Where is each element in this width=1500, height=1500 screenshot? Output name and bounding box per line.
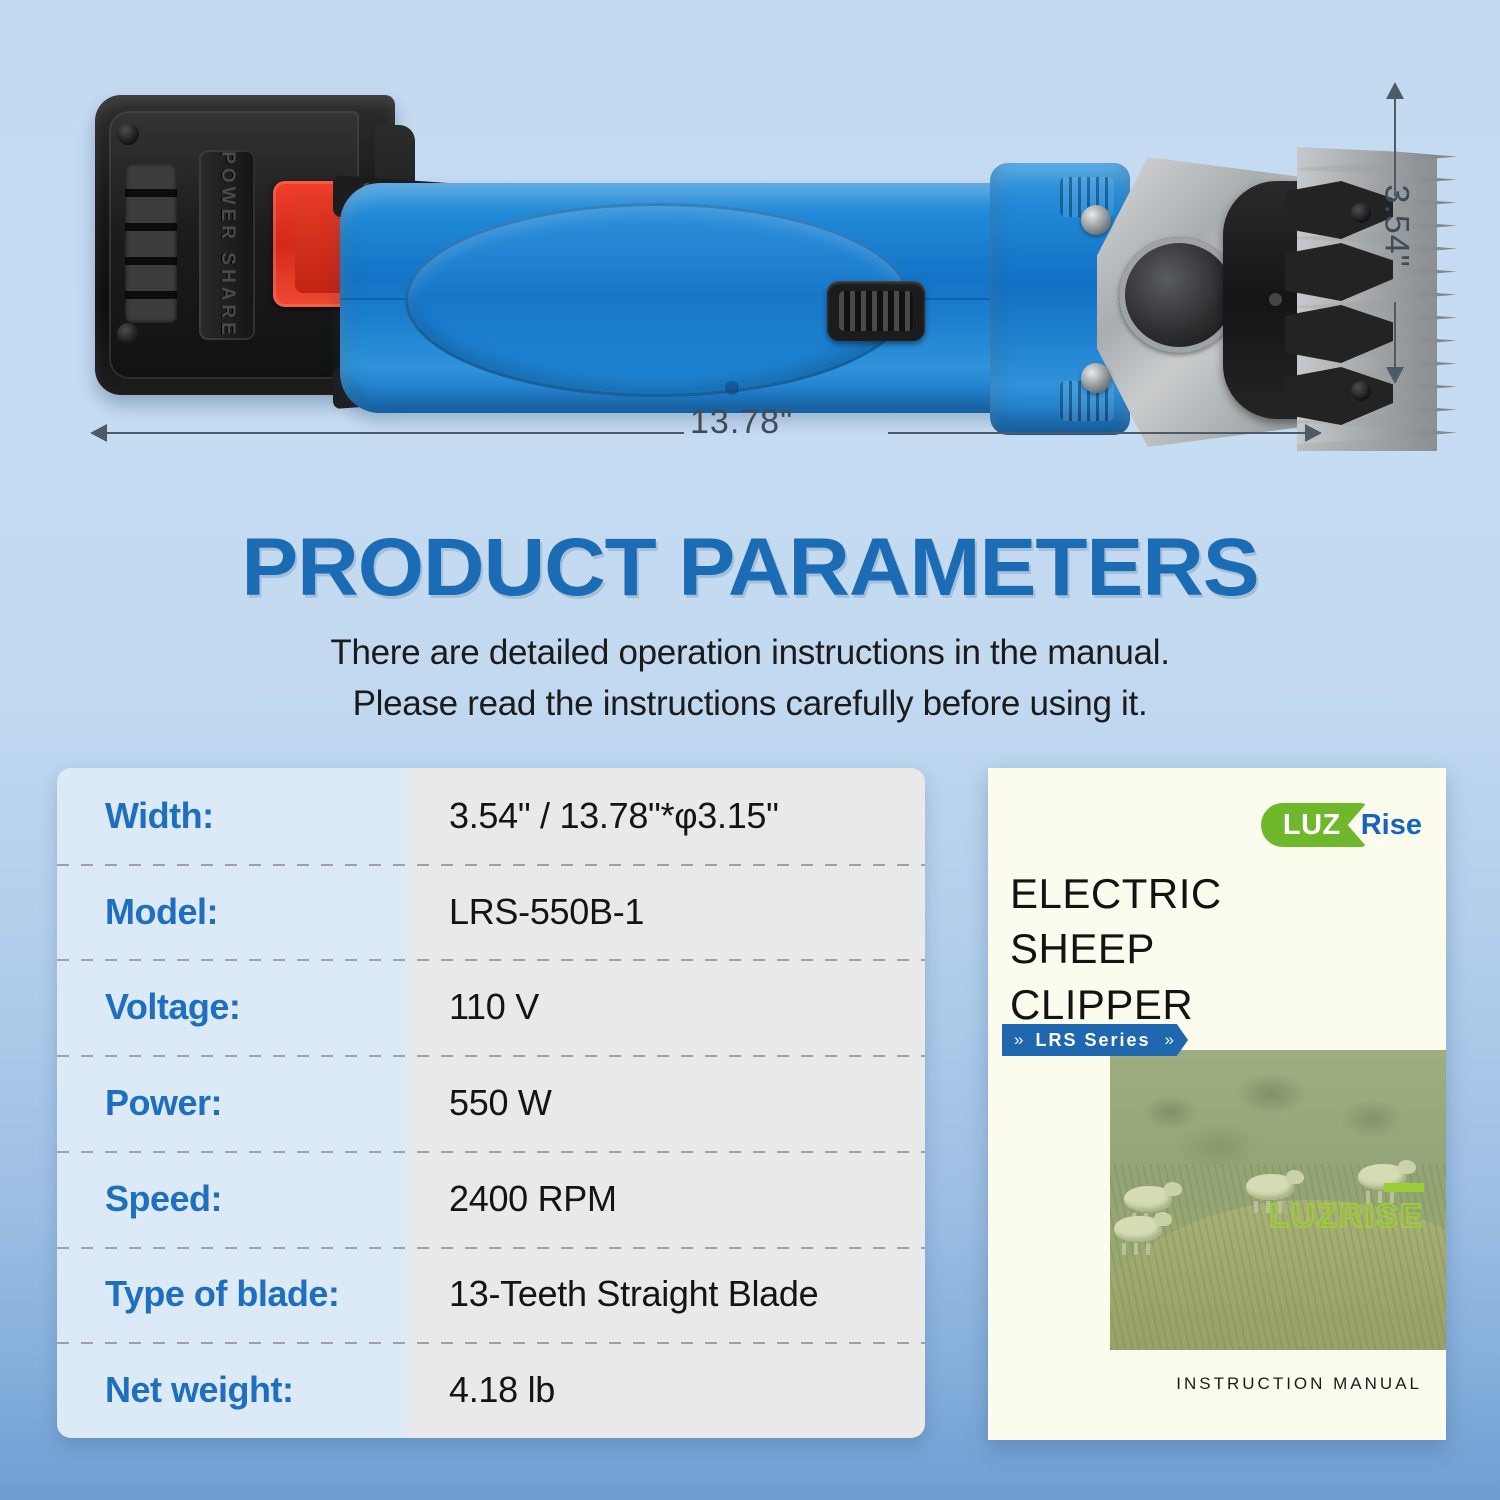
- electric-sheep-clipper-product: POWER SHARE: [85, 85, 1370, 395]
- battery-power-share-text: POWER SHARE: [216, 151, 238, 339]
- spec-value-type-of-blade: 13-Teeth Straight Blade: [407, 1273, 925, 1315]
- width-dimension-annotation: 13.78": [90, 420, 1322, 446]
- product-hero-image: POWER SHARE: [0, 0, 1500, 500]
- instruction-manual-cover: LUZRISE LUZ Rise ELECTRIC SHEEP CLIPPER …: [988, 768, 1446, 1440]
- wordmark-dash-icon: [1384, 1183, 1424, 1192]
- spec-label-voltage: Voltage:: [57, 986, 407, 1028]
- cutter-blade: [1285, 305, 1393, 363]
- head-bolt-bottom: [1081, 363, 1111, 393]
- spec-value-voltage: 110 V: [407, 986, 925, 1028]
- comb-tooth: [1297, 147, 1457, 168]
- table-row: Voltage: 110 V: [57, 959, 925, 1055]
- spec-label-model: Model:: [57, 891, 407, 933]
- spec-label-type-of-blade: Type of blade:: [57, 1273, 407, 1315]
- height-dimension-label: 3.54": [1377, 185, 1416, 255]
- manual-title-line-1: ELECTRIC: [1010, 866, 1222, 921]
- manual-title: ELECTRIC SHEEP CLIPPER: [1010, 866, 1222, 1032]
- dimension-line: [104, 432, 684, 434]
- product-parameters-table: Width: 3.54" / 13.78"*φ3.15" Model: LRS-…: [57, 768, 925, 1438]
- sheep-head: [1154, 1212, 1172, 1226]
- manual-title-line-2: SHEEP: [1010, 921, 1222, 976]
- power-switch: [827, 281, 925, 341]
- sheep-pasture-photo: LUZRISE: [1110, 1050, 1446, 1350]
- table-row: Model: LRS-550B-1: [57, 864, 925, 960]
- sheep-head: [1398, 1160, 1416, 1174]
- cutter-bolt: [1351, 381, 1371, 401]
- table-row: Width: 3.54" / 13.78"*φ3.15": [57, 768, 925, 864]
- manual-title-line-3: CLIPPER: [1010, 977, 1222, 1032]
- sheep-figure: [1124, 1182, 1182, 1216]
- chevron-right-icon: »: [1014, 1030, 1021, 1050]
- manual-wordmark: LUZRISE: [1269, 1183, 1424, 1232]
- battery-label-plate: POWER SHARE: [199, 150, 255, 340]
- chevron-right-icon: »: [1165, 1030, 1172, 1050]
- subtitle-line-1: There are detailed operation instruction…: [0, 629, 1500, 676]
- series-badge: » LRS Series »: [1002, 1024, 1188, 1056]
- cutter-blade: [1285, 367, 1393, 425]
- spec-label-net-weight: Net weight:: [57, 1369, 407, 1411]
- product-infographic-page: POWER SHARE: [0, 0, 1500, 1500]
- body-screw-dot: [725, 381, 739, 395]
- spec-value-width: 3.54" / 13.78"*φ3.15": [407, 795, 925, 837]
- dimension-line: [1394, 302, 1396, 370]
- wordmark-text: LUZRISE: [1269, 1199, 1424, 1232]
- spec-value-model: LRS-550B-1: [407, 891, 925, 933]
- sheep-leg: [1254, 1201, 1258, 1213]
- table-row: Type of blade: 13-Teeth Straight Blade: [57, 1247, 925, 1343]
- table-row: Speed: 2400 RPM: [57, 1151, 925, 1247]
- dimension-line: [888, 432, 1308, 434]
- cutter-bolt: [1351, 203, 1371, 223]
- sheep-leg: [1122, 1243, 1126, 1255]
- dimension-line: [1394, 96, 1396, 196]
- table-row: Net weight: 4.18 lb: [57, 1342, 925, 1438]
- head-bolt-top: [1081, 205, 1111, 235]
- arrow-right-icon: [1305, 424, 1322, 442]
- series-badge-label: LRS Series: [1035, 1030, 1150, 1051]
- battery-screw-top: [117, 123, 139, 145]
- spec-label-speed: Speed:: [57, 1178, 407, 1220]
- spec-value-power: 550 W: [407, 1082, 925, 1124]
- height-dimension-annotation: 3.54": [1378, 82, 1412, 384]
- sheep-head: [1164, 1182, 1182, 1196]
- sheep-head: [1286, 1170, 1304, 1184]
- battery-vent-ribs: [125, 163, 177, 323]
- headings-block: PRODUCT PARAMETERS There are detailed op…: [0, 525, 1500, 728]
- luzrise-logo: LUZ Rise: [1261, 802, 1422, 848]
- table-row: Power: 550 W: [57, 1055, 925, 1151]
- spec-label-width: Width:: [57, 795, 407, 837]
- logo-secondary-text: Rise: [1361, 811, 1422, 840]
- battery-screw-bottom: [117, 323, 139, 345]
- drive-hub: [1119, 237, 1239, 353]
- sheep-leg: [1134, 1243, 1138, 1255]
- spec-value-net-weight: 4.18 lb: [407, 1369, 925, 1411]
- page-title: PRODUCT PARAMETERS: [0, 525, 1500, 611]
- spec-value-speed: 2400 RPM: [407, 1178, 925, 1220]
- manual-footer-label: INSTRUCTION MANUAL: [1176, 1374, 1422, 1394]
- width-dimension-label: 13.78": [690, 403, 793, 442]
- spec-label-power: Power:: [57, 1082, 407, 1124]
- arrow-down-icon: [1386, 367, 1404, 384]
- subtitle-line-2: Please read the instructions carefully b…: [0, 680, 1500, 727]
- logo-green-badge: LUZ: [1261, 803, 1367, 847]
- sheep-leg: [1146, 1243, 1150, 1255]
- logo-primary-text: LUZ: [1283, 811, 1341, 840]
- sheep-figure: [1114, 1212, 1172, 1246]
